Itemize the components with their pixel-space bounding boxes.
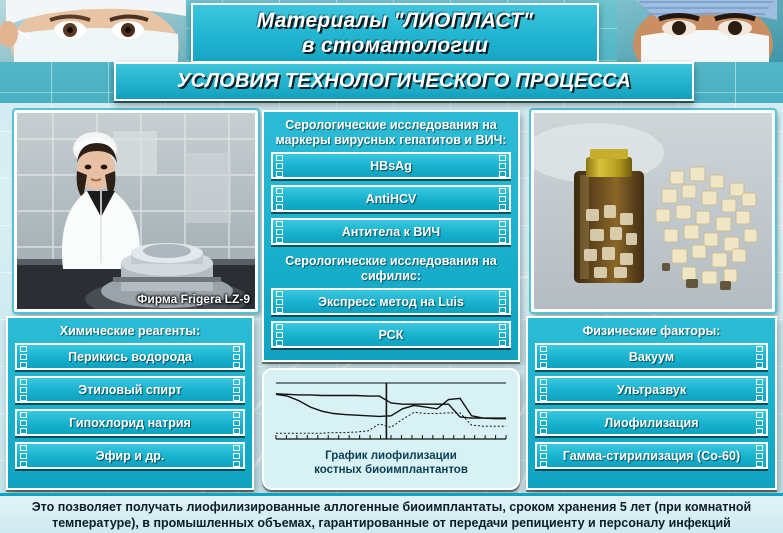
stud-marks-left-icon xyxy=(20,445,27,467)
footer-bar: Это позволяет получать лиофилизированные… xyxy=(0,493,783,533)
photo-frame-implants xyxy=(531,110,775,312)
pill-hbsag-label: HBsAg xyxy=(370,159,412,173)
pill-lyophilization-label: Лиофилизация xyxy=(604,416,698,430)
chart-plot-area xyxy=(270,375,512,449)
stud-marks-right-icon xyxy=(756,445,763,467)
footer-text: Это позволяет получать лиофилизированные… xyxy=(6,499,777,531)
stud-marks-right-icon xyxy=(756,346,763,368)
pill-vacuum-label: Вакуум xyxy=(629,350,674,364)
stud-marks-right-icon xyxy=(233,412,240,434)
stud-marks-right-icon xyxy=(499,291,506,313)
chart-caption-line-2: костных биоимплантантов xyxy=(270,464,512,477)
panel-chemical-reagents-title: Химические реагенты: xyxy=(15,322,245,343)
pill-ethyl-alcohol[interactable]: Этиловый спирт xyxy=(15,376,245,403)
stud-marks-left-icon xyxy=(20,379,27,401)
slide-title-line-1: Материалы "ЛИОПЛАСТ" xyxy=(257,8,534,33)
photo-frame-lyophilizer: Фирма Frigera LZ-9 xyxy=(14,110,258,312)
stud-marks-right-icon xyxy=(499,188,506,210)
panel-chemical-reagents: Химические реагенты: Перикись водорода Э… xyxy=(6,316,254,490)
stud-marks-left-icon xyxy=(276,155,283,177)
pill-lyophilization[interactable]: Лиофилизация xyxy=(535,409,768,436)
panel-physical-factors-title: Физические факторы: xyxy=(535,322,768,343)
pill-gamma-sterilization[interactable]: Гамма-стирилизация (Со-60) xyxy=(535,442,768,469)
stud-marks-right-icon xyxy=(499,155,506,177)
panel-serology-title: Серологические исследования на маркеры в… xyxy=(271,116,511,152)
pill-express-luis[interactable]: Экспресс метод на Luis xyxy=(271,288,511,315)
slide-subtitle-plaque: УСЛОВИЯ ТЕХНОЛОГИЧЕСКОГО ПРОЦЕССА xyxy=(114,62,694,101)
pill-antihcv-label: AntiHCV xyxy=(366,192,417,206)
pill-hiv-antibodies-label: Антитела к ВИЧ xyxy=(342,225,440,239)
pill-ether-etc-label: Эфир и др. xyxy=(96,449,165,463)
pill-gamma-sterilization-label: Гамма-стирилизация (Со-60) xyxy=(563,449,740,463)
stud-marks-left-icon xyxy=(20,412,27,434)
stud-marks-left-icon xyxy=(276,324,283,346)
pill-hydrogen-peroxide-label: Перикись водорода xyxy=(68,350,192,364)
stud-marks-left-icon xyxy=(20,346,27,368)
pill-hbsag[interactable]: HBsAg xyxy=(271,152,511,179)
slide-title-line-2: в стоматологии xyxy=(302,33,489,58)
pill-ultrasound-label: Ультразвук xyxy=(617,383,686,397)
photo-left-caption: Фирма Frigera LZ-9 xyxy=(137,292,250,306)
stud-marks-right-icon xyxy=(756,412,763,434)
header-photo-left xyxy=(0,0,186,62)
chart-caption-line-1: График лиофилизации xyxy=(270,450,512,463)
pill-rsk-label: РСК xyxy=(379,328,404,342)
chart-card-lyophilization: График лиофилизации костных биоимплантан… xyxy=(262,368,520,490)
pill-hiv-antibodies[interactable]: Антитела к ВИЧ xyxy=(271,218,511,245)
stud-marks-left-icon xyxy=(540,346,547,368)
pill-rsk[interactable]: РСК xyxy=(271,321,511,348)
stud-marks-left-icon xyxy=(276,291,283,313)
stud-marks-right-icon xyxy=(233,379,240,401)
pill-antihcv[interactable]: AntiHCV xyxy=(271,185,511,212)
stud-marks-left-icon xyxy=(276,188,283,210)
slide-title-plaque: Материалы "ЛИОПЛАСТ" в стоматологии xyxy=(191,3,599,63)
header-photo-right xyxy=(617,0,783,62)
stud-marks-left-icon xyxy=(276,221,283,243)
panel-physical-factors: Физические факторы: Вакуум Ультразвук Ли… xyxy=(526,316,777,490)
pill-hydrogen-peroxide[interactable]: Перикись водорода xyxy=(15,343,245,370)
stud-marks-right-icon xyxy=(233,445,240,467)
pill-ethyl-alcohol-label: Этиловый спирт xyxy=(78,383,181,397)
stud-marks-right-icon xyxy=(756,379,763,401)
panel-serology: Серологические исследования на маркеры в… xyxy=(262,110,520,362)
stud-marks-right-icon xyxy=(499,221,506,243)
pill-express-luis-label: Экспресс метод на Luis xyxy=(318,295,464,309)
pill-vacuum[interactable]: Вакуум xyxy=(535,343,768,370)
stud-marks-right-icon xyxy=(233,346,240,368)
stud-marks-left-icon xyxy=(540,379,547,401)
pill-sodium-hypochlorite-label: Гипохлорид натрия xyxy=(69,416,191,430)
pill-ether-etc[interactable]: Эфир и др. xyxy=(15,442,245,469)
panel-serology-subtitle: Серологические исследования на сифилис: xyxy=(271,251,511,288)
slide-subtitle: УСЛОВИЯ ТЕХНОЛОГИЧЕСКОГО ПРОЦЕССА xyxy=(177,70,631,93)
stud-marks-left-icon xyxy=(540,445,547,467)
pill-sodium-hypochlorite[interactable]: Гипохлорид натрия xyxy=(15,409,245,436)
slide-root: Материалы "ЛИОПЛАСТ" в стоматологии УСЛО… xyxy=(0,0,783,533)
pill-ultrasound[interactable]: Ультразвук xyxy=(535,376,768,403)
stud-marks-right-icon xyxy=(499,324,506,346)
stud-marks-left-icon xyxy=(540,412,547,434)
